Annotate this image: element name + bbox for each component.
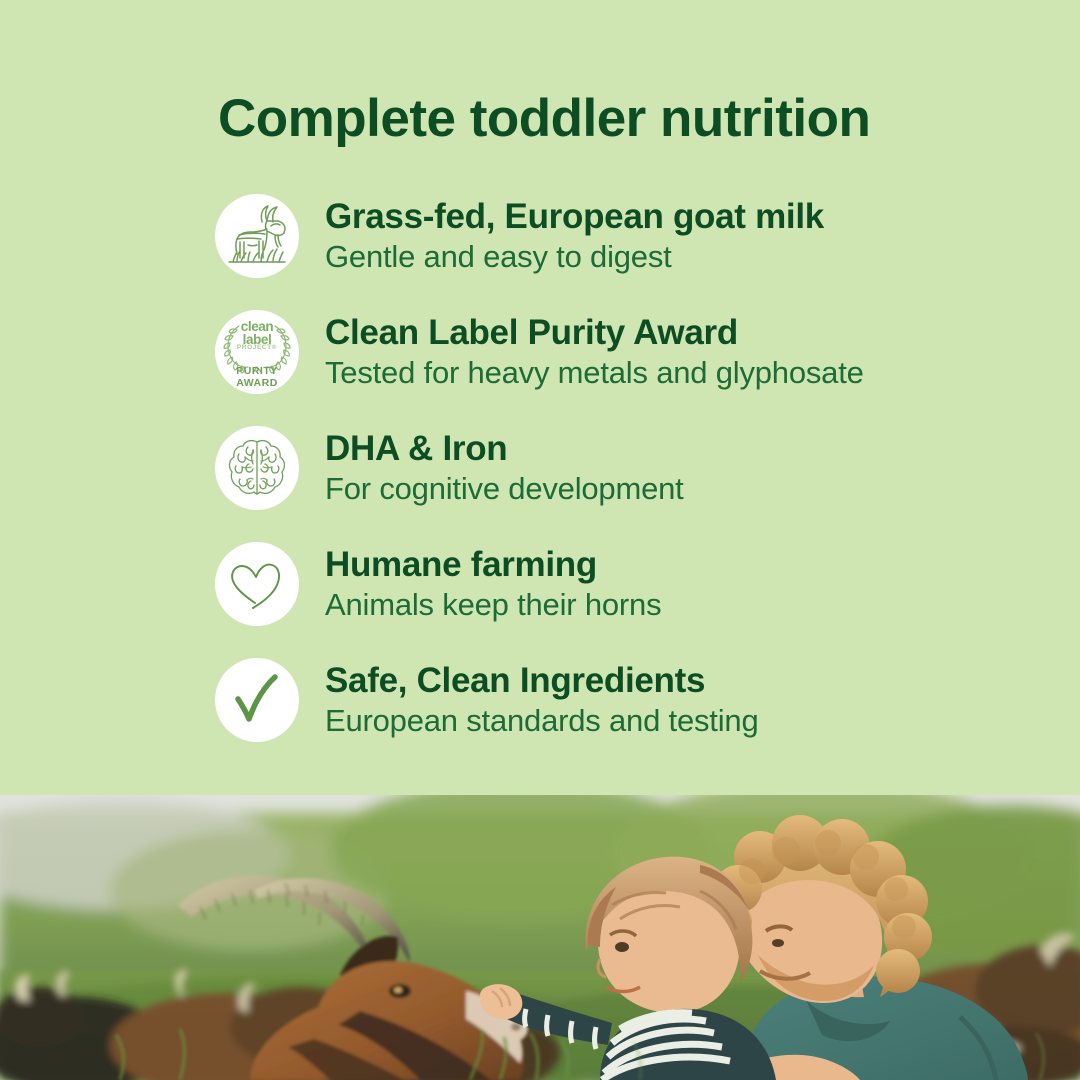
- promo-poster: Complete toddler nutrition: [0, 0, 1080, 1080]
- feature-title: Grass-fed, European goat milk: [325, 197, 824, 236]
- feature-row: DHA & Iron For cognitive development: [0, 422, 1080, 538]
- feature-row: Humane farming Animals keep their horns: [0, 538, 1080, 654]
- feature-text: DHA & Iron For cognitive development: [325, 422, 684, 507]
- heart-icon: [215, 542, 299, 626]
- checkmark-icon: [215, 658, 299, 742]
- features-panel: Complete toddler nutrition: [0, 0, 1080, 795]
- feature-row: Grass-fed, European goat milk Gentle and…: [0, 190, 1080, 306]
- badge-line-purity: PURITY: [236, 365, 278, 377]
- page-title: Complete toddler nutrition: [218, 88, 870, 149]
- clean-label-purity-award-badge-icon: clean label PROJECT® PURITY AWARD: [215, 310, 299, 394]
- feature-list: Grass-fed, European goat milk Gentle and…: [0, 190, 1080, 770]
- feature-text: Safe, Clean Ingredients European standar…: [325, 654, 758, 739]
- brain-icon: [215, 426, 299, 510]
- feature-title: Safe, Clean Ingredients: [325, 661, 758, 700]
- feature-title: DHA & Iron: [325, 429, 684, 468]
- badge-line-award: AWARD: [236, 377, 278, 389]
- feature-subtitle: Gentle and easy to digest: [325, 238, 824, 275]
- feature-title: Humane farming: [325, 545, 661, 584]
- badge-project-text: PROJECT®: [215, 345, 299, 352]
- feature-text: Humane farming Animals keep their horns: [325, 538, 661, 623]
- feature-subtitle: Tested for heavy metals and glyphosate: [325, 354, 864, 391]
- feature-row: Safe, Clean Ingredients European standar…: [0, 654, 1080, 770]
- feature-row: clean label PROJECT® PURITY AWARD Clean …: [0, 306, 1080, 422]
- photo-illustration: [0, 795, 1080, 1080]
- feature-subtitle: Animals keep their horns: [325, 586, 661, 623]
- goat-icon: [215, 194, 299, 278]
- badge-brand-text: clean label: [215, 321, 299, 347]
- feature-text: Clean Label Purity Award Tested for heav…: [325, 306, 864, 391]
- feature-text: Grass-fed, European goat milk Gentle and…: [325, 190, 824, 275]
- feature-subtitle: For cognitive development: [325, 470, 684, 507]
- feature-title: Clean Label Purity Award: [325, 313, 864, 352]
- badge-award-text: PURITY AWARD: [215, 366, 299, 390]
- feature-subtitle: European standards and testing: [325, 702, 758, 739]
- lifestyle-photo: [0, 795, 1080, 1080]
